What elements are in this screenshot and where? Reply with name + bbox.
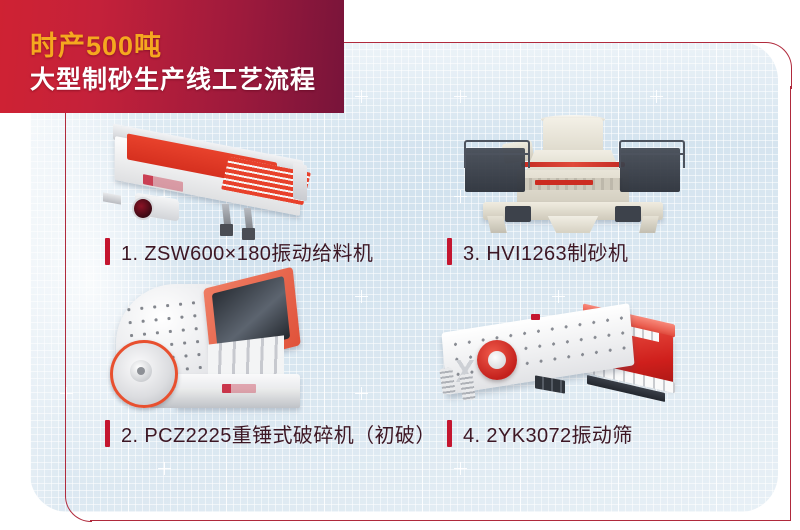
feeder-bracket	[103, 192, 121, 204]
product-caption-text: 3. HVI1263制砂机	[463, 237, 628, 266]
product-image-hammer-crusher	[112, 278, 342, 410]
screen-support-block	[535, 375, 565, 393]
sandmaker-red-label	[535, 180, 593, 185]
sandmaker-leg-right	[639, 216, 659, 233]
sparkle-icon	[60, 387, 73, 400]
product-image-vibrating-feeder	[105, 128, 320, 233]
feeder-leg	[222, 204, 231, 226]
product-caption-3: 3. HVI1263制砂机	[447, 237, 628, 266]
feeder-foot	[220, 224, 233, 236]
product-caption-4: 4. 2YK3072振动筛	[447, 419, 633, 448]
sparkle-icon	[60, 190, 73, 203]
product-image-vsi-sand-maker	[465, 118, 680, 233]
sandmaker-hopper	[543, 118, 603, 154]
sandmaker-leg-left	[487, 216, 507, 233]
sandmaker-red-band	[521, 162, 625, 167]
frame-corner-bottom-left	[65, 494, 92, 522]
product-caption-1: 1. ZSW600×180振动给料机	[105, 237, 373, 266]
sandmaker-drive-box-right	[615, 206, 641, 222]
sandmaker-railing-left	[464, 140, 530, 168]
title-banner: 时产500吨 大型制砂生产线工艺流程	[0, 0, 344, 113]
sandmaker-railing-right	[619, 140, 685, 168]
product-caption-text: 4. 2YK3072振动筛	[463, 419, 633, 448]
caption-accent-bar	[105, 420, 110, 447]
sandmaker-discharge-chute	[543, 216, 603, 233]
product-caption-text: 2. PCZ2225重锤式破碎机（初破）	[121, 419, 436, 448]
sparkle-icon	[158, 462, 171, 475]
banner-title-line1: 时产500吨	[30, 24, 162, 63]
feeder-leg	[244, 208, 253, 230]
product-image-vibrating-screen	[435, 300, 710, 410]
crusher-brand-logo	[222, 384, 256, 393]
frame-line-right	[790, 86, 791, 520]
screen-red-tab	[531, 314, 540, 320]
sandmaker-drive-box-left	[505, 206, 531, 222]
caption-accent-bar	[447, 238, 452, 265]
frame-corner-top-right	[745, 42, 792, 89]
product-caption-text: 1. ZSW600×180振动给料机	[121, 237, 373, 266]
crusher-flywheel-hub	[130, 360, 152, 382]
product-caption-2: 2. PCZ2225重锤式破碎机（初破）	[105, 419, 436, 448]
frame-line-bottom	[90, 520, 791, 521]
caption-accent-bar	[105, 238, 110, 265]
caption-accent-bar	[447, 420, 452, 447]
feeder-end-wall	[293, 163, 307, 202]
feeder-motor-face	[132, 197, 154, 220]
banner-title-line2: 大型制砂生产线工艺流程	[30, 60, 316, 96]
poster-stage: 时产500吨 大型制砂生产线工艺流程 1. ZSW600×180振动给料机	[0, 0, 800, 530]
